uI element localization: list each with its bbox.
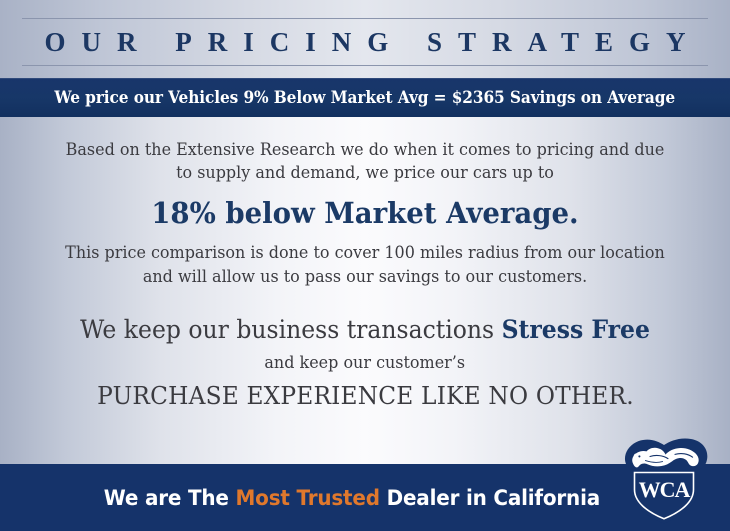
header-rules: OUR PRICING STRATEGY	[22, 18, 708, 66]
savings-banner-text: We price our Vehicles 9% Below Market Av…	[55, 88, 676, 107]
discount-highlight: 18% below Market Average.	[151, 195, 578, 231]
intro-paragraph: Based on the Extensive Research we do wh…	[64, 139, 666, 186]
footer-text-before: We are The	[104, 486, 236, 510]
panther-icon	[625, 438, 707, 471]
savings-banner: We price our Vehicles 9% Below Market Av…	[0, 78, 730, 117]
customer-subline: and keep our customer’s	[265, 353, 466, 373]
wca-logo: WCA	[612, 430, 716, 526]
pricing-strategy-poster: OUR PRICING STRATEGY We price our Vehicl…	[0, 0, 730, 531]
purchase-experience-line: PURCHASE EXPERIENCE LIKE NO OTHER.	[97, 381, 634, 410]
stress-free-tagline: We keep our business transactions Stress…	[80, 315, 650, 345]
comparison-paragraph: This price comparison is done to cover 1…	[64, 242, 666, 289]
logo-monogram: WCA	[639, 477, 691, 502]
tagline-lead-text: We keep our business transactions	[80, 315, 501, 344]
footer-tagline: We are The Most Trusted Dealer in Califo…	[104, 486, 600, 510]
footer-text-after: Dealer in California	[380, 486, 600, 510]
header-band: OUR PRICING STRATEGY	[0, 0, 730, 78]
body-content: Based on the Extensive Research we do wh…	[0, 117, 730, 464]
footer-text-highlight: Most Trusted	[235, 486, 379, 510]
page-title: OUR PRICING STRATEGY	[28, 29, 701, 56]
tagline-accent-text: Stress Free	[502, 315, 650, 344]
